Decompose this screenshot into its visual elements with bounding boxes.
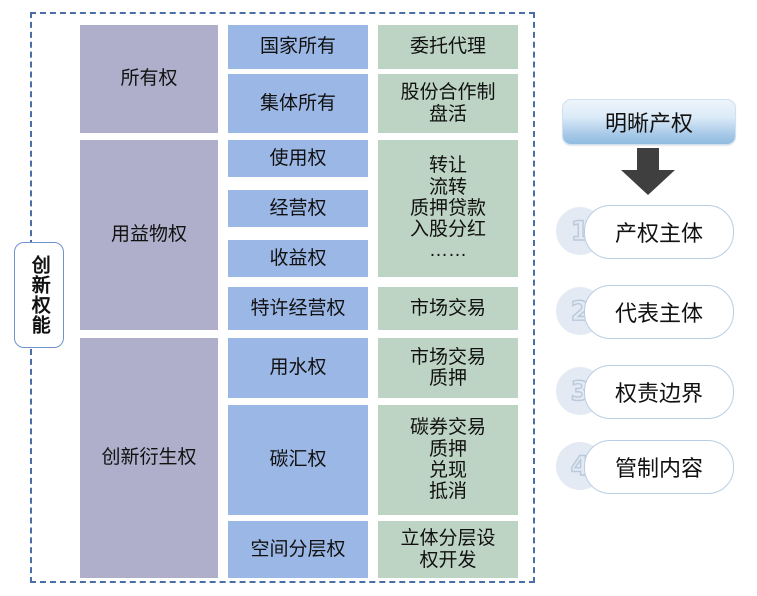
panel-header-box: 明晰产权 — [562, 99, 736, 145]
category-cell-innovative: 创新衍生权 — [80, 338, 218, 578]
left-vertical-label: 创新权能 — [14, 242, 64, 348]
category-cell-ownership: 所有权 — [80, 25, 218, 133]
action-cell-entrusted-agency: 委托代理 — [378, 25, 518, 69]
right-cell-operation-right: 经营权 — [228, 190, 368, 227]
action-cell-market-transaction: 市场交易 — [378, 287, 518, 330]
action-cell-transfer-list: 转让 流转 质押贷款 入股分红 …… — [378, 140, 518, 277]
right-cell-use-right: 使用权 — [228, 140, 368, 177]
category-cell-usufruct: 用益物权 — [80, 140, 218, 330]
right-cell-state-ownership: 国家所有 — [228, 25, 368, 69]
action-cell-shareholding-cooperation: 股份合作制 盘活 — [378, 74, 518, 133]
panel-header-text: 明晰产权 — [605, 106, 693, 138]
left-vertical-label-text: 创新权能 — [29, 255, 48, 335]
right-cell-collective-ownership: 集体所有 — [228, 74, 368, 133]
action-cell-3d-layered-development: 立体分层设 权开发 — [378, 521, 518, 578]
diagram-canvas: 创新权能 所有权 用益物权 创新衍生权 国家所有 集体所有 使用权 经营权 收益… — [0, 0, 757, 596]
right-cell-carbon-sink-right: 碳汇权 — [228, 405, 368, 515]
action-cell-market-transaction-pledge: 市场交易 质押 — [378, 338, 518, 398]
panel-item-2-label[interactable]: 代表主体 — [584, 285, 734, 339]
right-cell-franchise-right: 特许经营权 — [228, 287, 368, 330]
right-cell-water-right: 用水权 — [228, 338, 368, 398]
panel-item-1[interactable]: 1 产权主体 — [556, 205, 746, 257]
down-arrow-icon — [615, 148, 681, 196]
panel-item-4[interactable]: 4 管制内容 — [556, 440, 746, 492]
panel-item-2[interactable]: 2 代表主体 — [556, 285, 746, 337]
right-cell-income-right: 收益权 — [228, 240, 368, 277]
panel-item-4-label[interactable]: 管制内容 — [584, 440, 734, 494]
panel-item-1-label[interactable]: 产权主体 — [584, 205, 734, 259]
right-cell-space-layer-right: 空间分层权 — [228, 521, 368, 578]
panel-item-3-label[interactable]: 权责边界 — [584, 365, 734, 419]
panel-item-3[interactable]: 3 权责边界 — [556, 365, 746, 417]
action-cell-carbon-trading: 碳券交易 质押 兑现 抵消 — [378, 405, 518, 515]
